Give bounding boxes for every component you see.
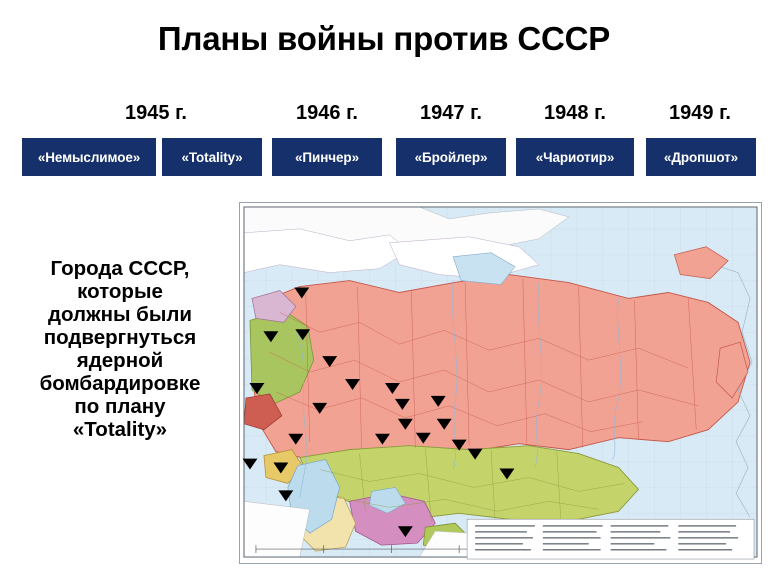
map-south-neighbours — [244, 501, 310, 557]
plan-box-totality[interactable]: «Totality» — [162, 138, 262, 176]
map-image — [239, 202, 762, 564]
year-label-1945: 1945 г. — [96, 102, 216, 125]
plan-box-label: «Дропшот» — [664, 150, 738, 165]
caption-line: «Totality» — [2, 419, 238, 442]
year-label-1947: 1947 г. — [391, 102, 511, 125]
plan-box-label: «Totality» — [181, 150, 242, 165]
plan-box-дропшот[interactable]: «Дропшот» — [646, 138, 756, 176]
plan-box-label: «Немыслимое» — [38, 150, 140, 165]
plan-box-бройлер[interactable]: «Бройлер» — [396, 138, 506, 176]
plan-box-label: «Пинчер» — [295, 150, 359, 165]
caption-line: по плану — [2, 396, 238, 419]
plan-box-label: «Бройлер» — [415, 150, 488, 165]
caption-line: ядерной — [2, 350, 238, 373]
map-region-rsfsr — [252, 275, 750, 460]
caption-line: должны были — [2, 304, 238, 327]
caption-line: которые — [2, 281, 238, 304]
plan-box-label: «Чариотир» — [536, 150, 615, 165]
year-label-1946: 1946 г. — [267, 102, 387, 125]
year-label-1948: 1948 г. — [515, 102, 635, 125]
plan-box-пинчер[interactable]: «Пинчер» — [272, 138, 382, 176]
map-svg — [240, 203, 761, 563]
plan-box-чариотир[interactable]: «Чариотир» — [516, 138, 634, 176]
caption-line: Города СССР, — [2, 258, 238, 281]
page-title: Планы войны против СССР — [0, 22, 768, 57]
map-legend — [467, 519, 754, 559]
caption-block: Города СССР,которыедолжны былиподвергнут… — [2, 258, 238, 442]
year-label-1949: 1949 г. — [640, 102, 760, 125]
slide-root: Планы войны против СССР 1945 г.1946 г.19… — [0, 0, 768, 576]
caption-line: подвергнуться — [2, 327, 238, 350]
caption-line: бомбардировке — [2, 373, 238, 396]
plan-box-немыслимое[interactable]: «Немыслимое» — [22, 138, 156, 176]
